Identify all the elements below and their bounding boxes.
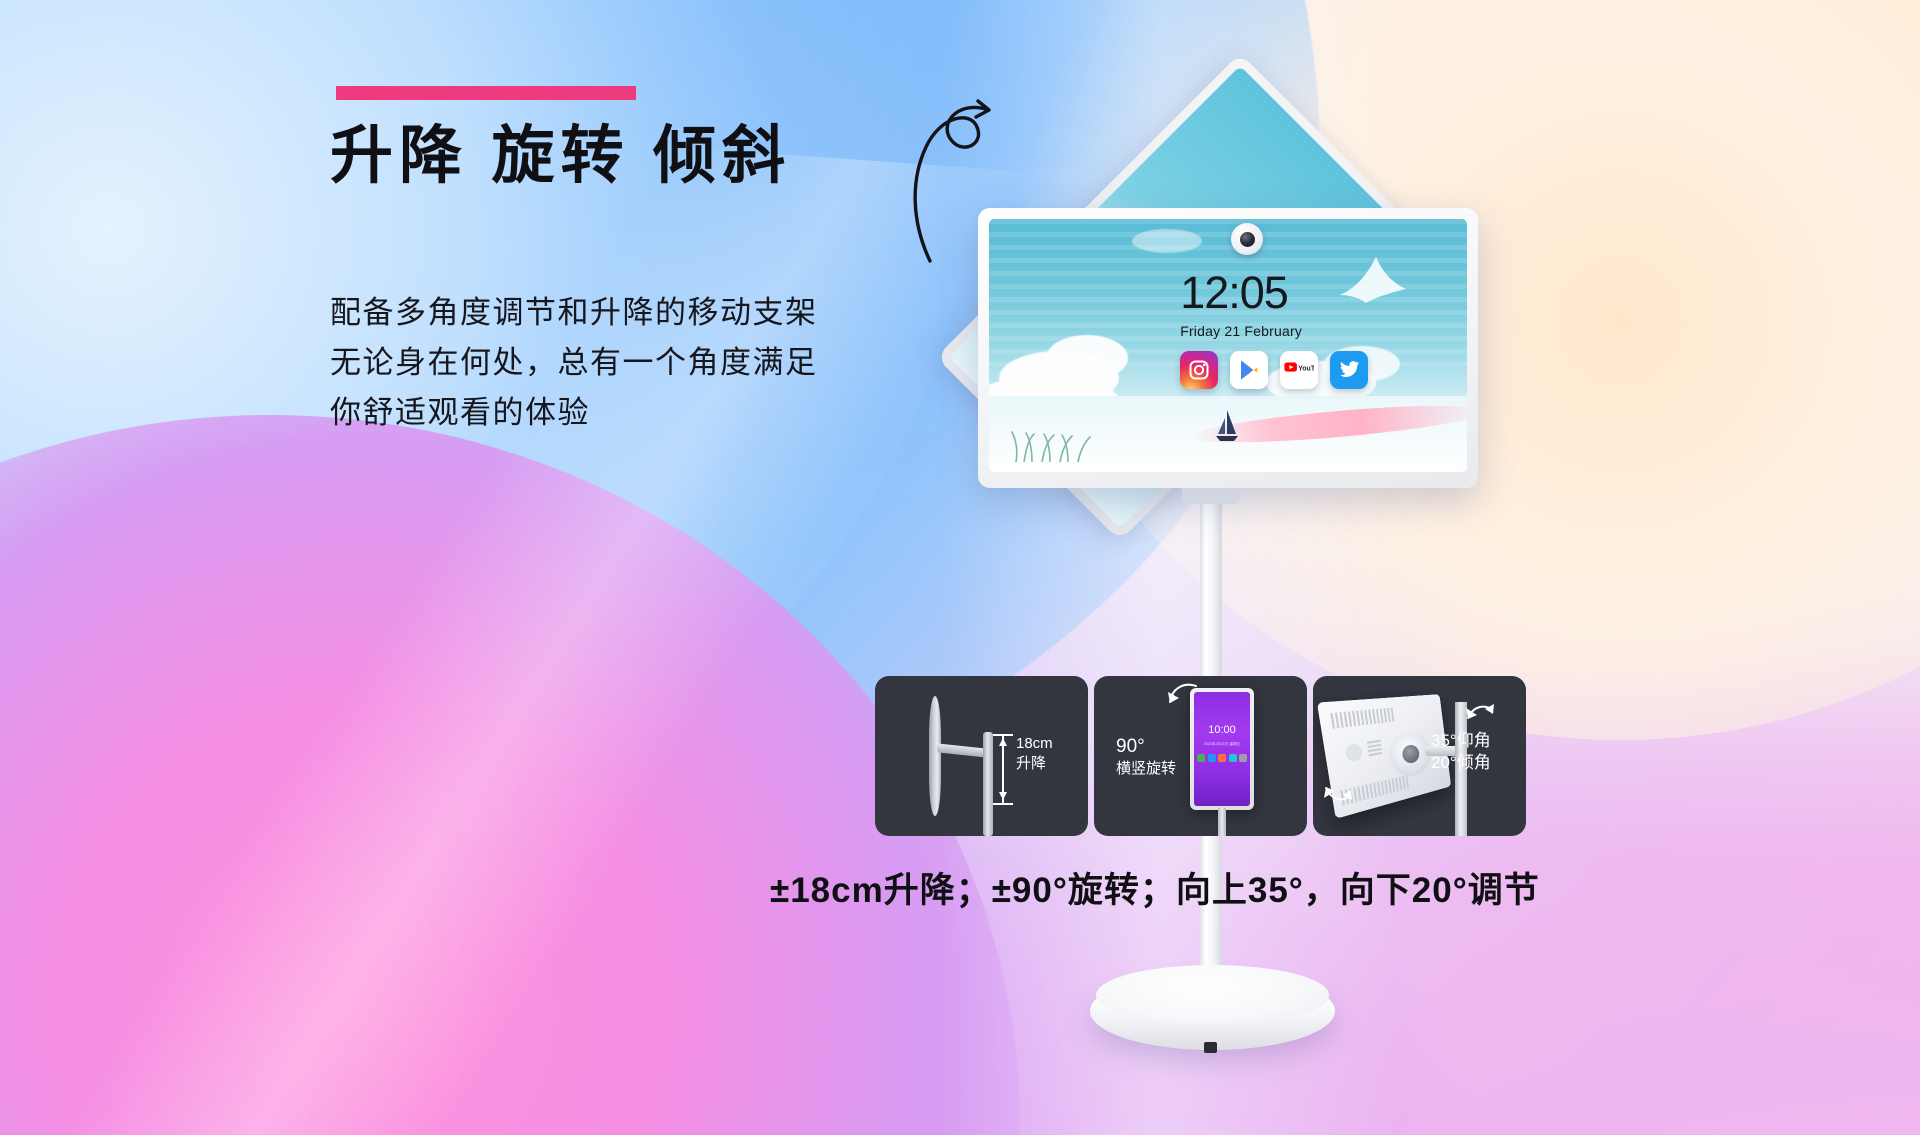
rear-label [1367,740,1382,757]
page-title: 升降 旋转 倾斜 [330,122,791,191]
feature-card-height[interactable]: 18cm 升降 [875,676,1088,836]
label-line-2: 20°倾角 [1431,752,1491,774]
mini-clock-time: 10:00 [1194,724,1250,736]
instagram-icon[interactable] [1180,351,1218,389]
svg-text:YouTube: YouTube [1298,365,1314,372]
caster-wheel [1204,1042,1217,1053]
feature-card-tilt-label: 35°仰角 20°倾角 [1431,730,1491,775]
label-line-1: 90° [1116,734,1176,759]
dimension-tick [993,803,1013,805]
mini-app-icon [1218,754,1226,762]
dimension-arrows-icon [996,736,1010,802]
tilt-arrow-up-icon [1465,700,1495,724]
feature-card-rotate-label: 90° 横竖旋转 [1116,734,1176,779]
google-play-icon[interactable] [1230,351,1268,389]
portrait-monitor: 10:00 2021年2月21日 星期五 [1190,688,1254,810]
stand-base-top [1096,965,1329,1025]
mini-app-icon [1239,754,1247,762]
sailboat-icon [1214,408,1240,442]
stand-arm [937,743,988,757]
clock-date: Friday 21 February [1180,323,1302,339]
mini-app-icon [1229,754,1237,762]
vent-grille [1330,708,1394,729]
tilt-arrow-down-icon [1323,780,1353,804]
portrait-stand-pole [1218,808,1226,836]
youtube-icon[interactable]: YouTube [1280,351,1318,389]
clock-time: 12:05 [1180,270,1302,315]
twitter-icon[interactable] [1330,351,1368,389]
poster-canvas: 升降 旋转 倾斜 配备多角度调节和升降的移动支架 无论身在何处，总有一个角度满足… [0,0,1920,1135]
monitor-side-profile [929,696,941,816]
lockscreen-clock: 12:05 Friday 21 February [1180,270,1302,339]
monitor-screen: 12:05 Friday 21 February [989,219,1467,472]
feature-card-tilt[interactable]: 35°仰角 20°倾角 [1313,676,1526,836]
subcopy-line-1: 配备多角度调节和升降的移动支架 [330,288,818,338]
feature-card-list: 18cm 升降 10:00 2021年2月21日 星期五 [875,676,1526,836]
portrait-monitor-screen: 10:00 2021年2月21日 星期五 [1194,692,1250,806]
app-dock: YouTube [1180,351,1368,389]
spec-caption: ±18cm升降；±90°旋转；向上35°，向下20°调节 [770,862,1540,913]
mini-app-row [1194,754,1250,762]
label-line-2: 横竖旋转 [1116,759,1176,779]
feature-card-height-label: 18cm 升降 [1016,734,1053,774]
mini-clock-date: 2021年2月21日 星期五 [1194,742,1250,747]
subcopy: 配备多角度调节和升降的移动支架 无论身在何处，总有一个角度满足 你舒适观看的体验 [330,288,818,439]
label-line-2: 升降 [1016,754,1053,774]
label-line-1: 18cm [1016,734,1053,754]
subcopy-line-2: 无论身在何处，总有一个角度满足 [330,338,818,388]
accent-bar [336,86,636,100]
subcopy-line-3: 你舒适观看的体验 [330,388,818,438]
monitor: 12:05 Friday 21 February [978,208,1478,488]
label-line-1: 35°仰角 [1431,730,1491,752]
mini-app-icon [1197,754,1205,762]
seagull-icon [1336,249,1410,303]
webcam-icon [1231,223,1263,255]
feature-card-rotate[interactable]: 10:00 2021年2月21日 星期五 90° 横竖旋转 [1094,676,1307,836]
monitor-rig: 12:05 Friday 21 February [950,60,1510,1070]
stand-post [983,732,993,836]
rear-port [1344,743,1363,763]
grass-icon [1008,428,1098,462]
mini-app-icon [1208,754,1216,762]
